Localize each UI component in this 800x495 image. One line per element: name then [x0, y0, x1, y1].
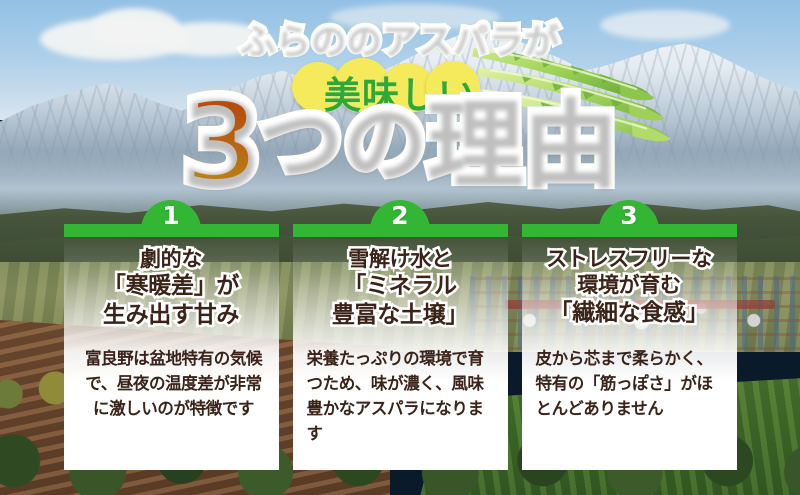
card-heading: 劇的な 「寒暖差」が 生み出す甘み — [64, 246, 279, 330]
card-top-bar — [522, 224, 737, 237]
headline-line-1-text: ふらののアスパラが — [240, 21, 560, 61]
headline-line-1: ふらののアスパラが — [0, 12, 800, 63]
headline-line-3: 3つの理由 — [0, 88, 800, 197]
headline-group: ふらののアスパラが 美味しい 3つの理由 — [0, 0, 800, 200]
card-top-bar — [64, 224, 279, 237]
card-body-text: 栄養たっぷりの環境で育つため、味が濃く、風味豊かなアスパラになります — [307, 346, 499, 446]
reason-card-2[interactable]: 2 雪解け水と 「ミネラル 豊富な土壌」 栄養たっぷりの環境で育つため、味が濃く… — [293, 200, 508, 472]
card-body-text: 富良野は盆地特有の気候で、昼夜の温度差が非常に激しいのが特徴です — [78, 346, 270, 421]
headline-counter: つの — [259, 102, 427, 182]
card-body-text: 皮から芯まで柔らかく、特有の「筋っぽさ」がほとんどありません — [536, 346, 728, 421]
headline-noun: 理由 — [427, 97, 619, 188]
reason-card-3[interactable]: 3 ストレスフリーな 環境が育む 「繊細な食感」 皮から芯まで柔らかく、特有の「… — [522, 200, 737, 472]
card-top-bar — [293, 224, 508, 237]
headline-number: 3 — [181, 88, 263, 197]
card-heading: 雪解け水と 「ミネラル 豊富な土壌」 — [293, 246, 508, 330]
reason-card-1[interactable]: 1 劇的な 「寒暖差」が 生み出す甘み 富良野は盆地特有の気候で、昼夜の温度差が… — [64, 200, 279, 472]
card-heading: ストレスフリーな 環境が育む 「繊細な食感」 — [522, 246, 737, 328]
promo-banner: ふらののアスパラが 美味しい 3つの理由 1 劇的な 「寒暖差」が 生み出す甘み — [0, 0, 800, 495]
reason-cards: 1 劇的な 「寒暖差」が 生み出す甘み 富良野は盆地特有の気候で、昼夜の温度差が… — [0, 200, 800, 495]
